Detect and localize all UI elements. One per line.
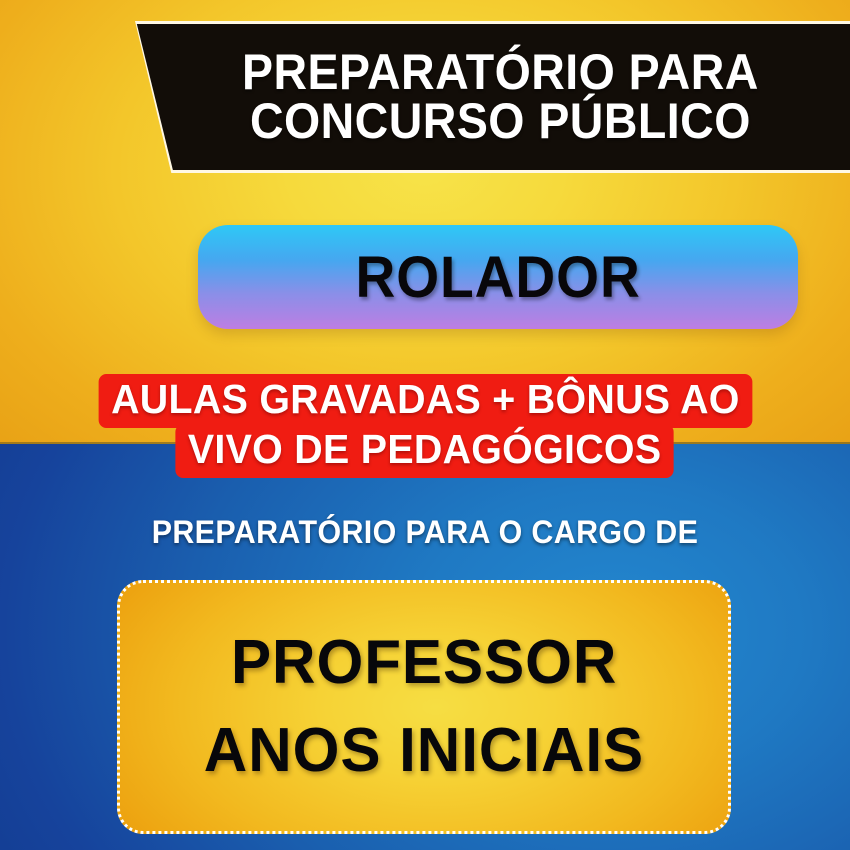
headline-line-2: CONCURSO PÚBLICO	[242, 97, 759, 146]
promo-line-1: AULAS GRAVADAS + BÔNUS AO	[98, 374, 752, 428]
headline-banner: PREPARATÓRIO PARA CONCURSO PÚBLICO	[89, 24, 850, 170]
promo-highlight-block: AULAS GRAVADAS + BÔNUS AO VIVO DE PEDAGÓ…	[0, 374, 850, 478]
role-line-1: PROFESSOR	[231, 632, 617, 694]
headline-line-1: PREPARATÓRIO PARA	[242, 48, 759, 97]
subtitle-text: PREPARATÓRIO PARA O CARGO DE	[21, 514, 829, 551]
city-pill: ROLADOR	[198, 225, 798, 329]
role-card: PROFESSOR ANOS INICIAIS	[117, 580, 731, 834]
city-name-label: ROLADOR	[355, 244, 640, 311]
promo-line-2: VIVO DE PEDAGÓGICOS	[176, 424, 674, 478]
headline-text: PREPARATÓRIO PARA CONCURSO PÚBLICO	[203, 48, 759, 146]
role-line-2: ANOS INICIAIS	[204, 720, 644, 782]
promo-poster: PREPARATÓRIO PARA CONCURSO PÚBLICO ROLAD…	[0, 0, 850, 850]
